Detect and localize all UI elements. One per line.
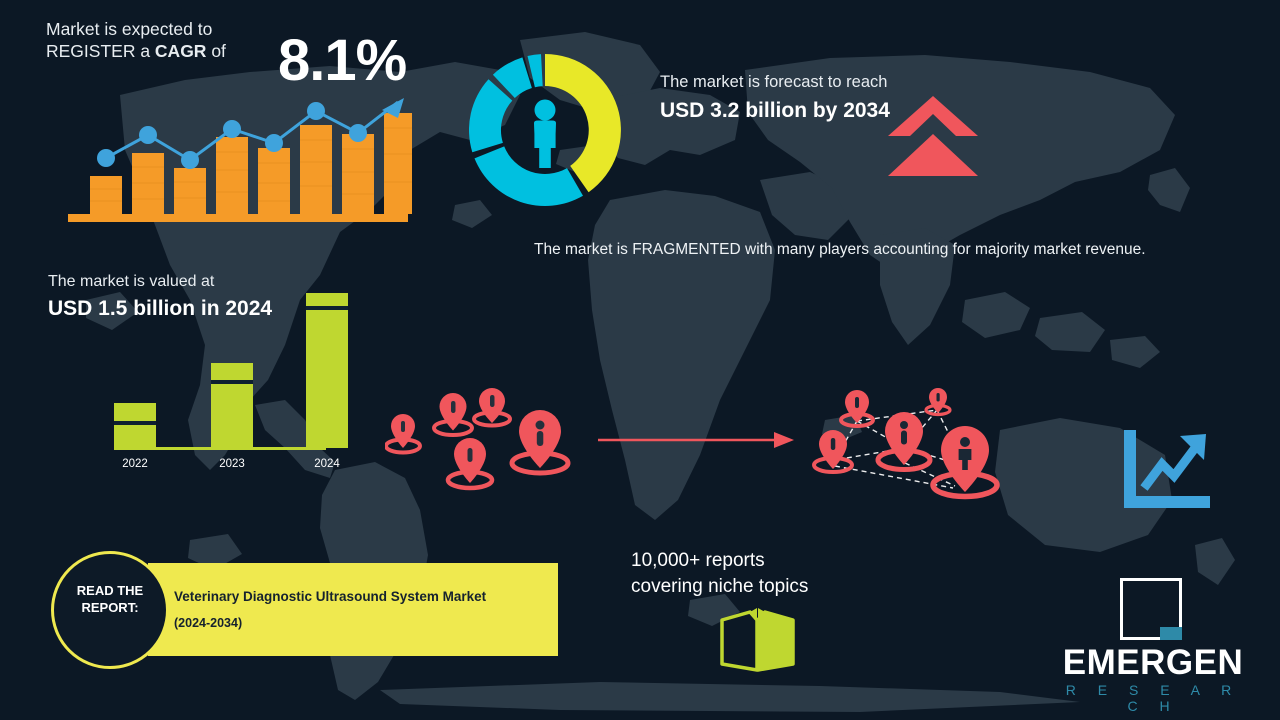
bar-label-2023: 2023 [201,458,263,470]
open-book-icon [720,608,795,672]
cagr-keyword: CAGR [155,41,207,61]
bar-split-2022 [114,421,156,425]
bar-2024 [306,293,348,448]
growth-chart-arrow-icon [68,88,413,223]
map-pin-network-icon [805,388,1020,503]
bar-label-2022: 2022 [104,458,166,470]
read-the-report-badge[interactable]: READ THE REPORT: [51,551,169,669]
bar-2023 [211,363,253,448]
map-pin-cluster-icon [385,388,580,493]
bar-label-2024: 2024 [296,458,358,470]
donut-chart-person-icon [465,48,625,213]
fragmented-text: The market is FRAGMENTED with many playe… [534,238,1224,261]
bar-split-2024 [306,306,348,310]
logo-subtitle: R E S E A R C H [1058,682,1248,714]
bar-split-2023 [211,380,253,384]
infographic-canvas: Market is expected to REGISTER a CAGR of… [0,0,1280,720]
reports-line-2: covering niche topics [631,574,931,600]
logo-name: EMERGEN [1058,644,1248,681]
valued-label: The market is valued at [48,272,308,292]
bar-2022 [114,403,156,448]
cagr-value: 8.1% [278,32,406,90]
read-the-report-label: READ THE REPORT: [54,582,166,616]
cagr-pre: REGISTER a [46,41,155,61]
reports-block: 10,000+ reports covering niche topics [631,548,931,600]
emergen-research-logo: EMERGEN R E S E A R C H [1058,578,1248,698]
forecast-value: USD 3.2 billion by 2034 [660,97,900,124]
growth-chart-icon [1122,430,1210,512]
logo-accent [1160,627,1182,640]
read-report-banner[interactable]: Veterinary Diagnostic Ultrasound System … [148,563,558,656]
double-up-chevron-icon [888,96,978,178]
forecast-block: The market is forecast to reach USD 3.2 … [660,72,900,124]
report-title: Veterinary Diagnostic Ultrasound System … [174,589,486,604]
report-period: (2024-2034) [174,616,242,630]
market-value-bar-chart: 2022 2023 2024 [80,295,330,470]
forecast-label: The market is forecast to reach [660,72,900,93]
reports-line-1: 10,000+ reports [631,548,931,574]
square-chart-logo-icon [1120,578,1182,640]
right-arrow-icon [598,430,794,450]
cagr-post: of [206,41,225,61]
cagr-block: Market is expected to REGISTER a CAGR of… [46,18,466,62]
